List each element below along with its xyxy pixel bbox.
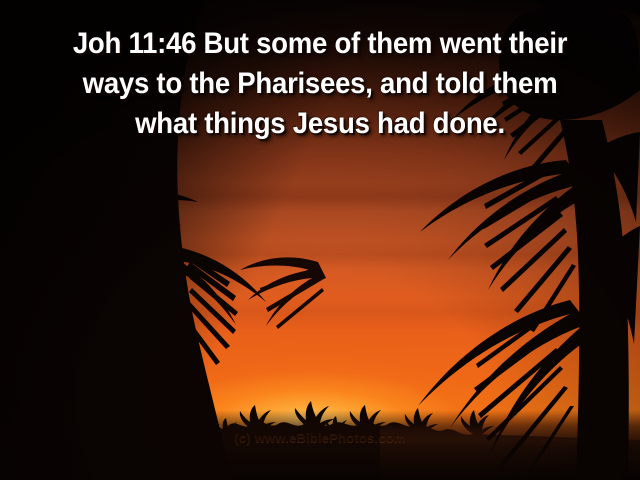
- scripture-verse-image: (c) www.eBiblePhotos.com Joh 11:46 But s…: [0, 0, 640, 480]
- vignette: [0, 0, 640, 480]
